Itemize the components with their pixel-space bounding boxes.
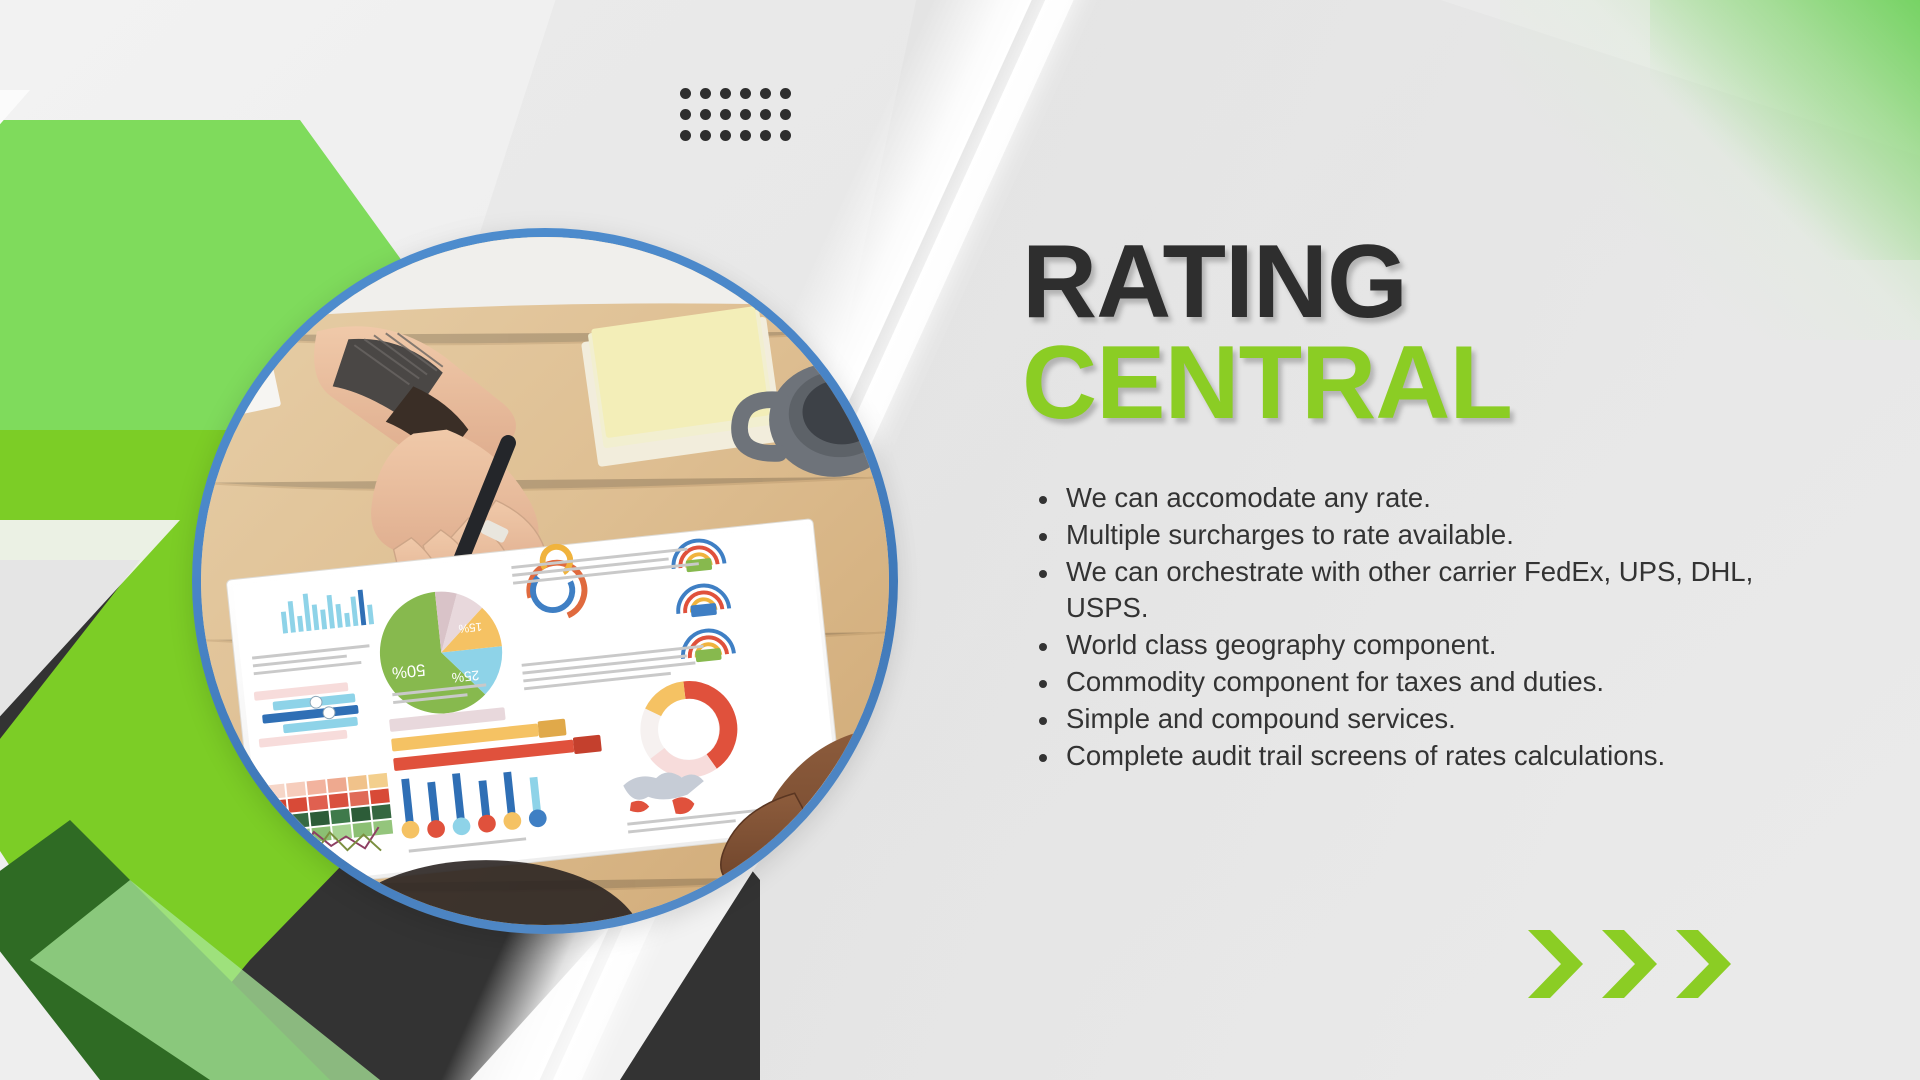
content-column: RATING CENTRAL We can accomodate any rat… [1022, 232, 1762, 775]
grid-dot [760, 130, 771, 141]
circular-photo-frame: 50% 25% 15% [192, 228, 898, 934]
list-item: Commodity component for taxes and duties… [1066, 664, 1762, 700]
svg-text:50%: 50% [391, 660, 426, 682]
feature-bullet-list: We can accomodate any rate. Multiple sur… [1022, 480, 1762, 774]
grid-dot [760, 109, 771, 120]
grid-dot [680, 109, 691, 120]
grid-dot [760, 88, 771, 99]
list-item: We can accomodate any rate. [1066, 480, 1762, 516]
chevron-right-icon [1598, 928, 1661, 1000]
grid-dot [700, 130, 711, 141]
grid-dot [700, 88, 711, 99]
grid-dot [780, 130, 791, 141]
grid-dot [720, 130, 731, 141]
chevron-right-icon [1524, 928, 1587, 1000]
chevron-right-icon [1672, 928, 1735, 1000]
grid-dot [780, 88, 791, 99]
grid-dot [720, 88, 731, 99]
desk-analytics-photo: 50% 25% 15% [201, 237, 889, 925]
svg-text:15%: 15% [457, 620, 482, 635]
page-title: RATING CENTRAL [1022, 232, 1762, 434]
grid-dot [780, 109, 791, 120]
svg-text:25%: 25% [451, 667, 480, 685]
grid-dot [680, 130, 691, 141]
grid-dot [680, 88, 691, 99]
title-line-primary: RATING [1022, 232, 1762, 333]
grid-dot [700, 109, 711, 120]
grid-dot [740, 88, 751, 99]
slide-canvas: 50% 25% 15% [0, 0, 1920, 1080]
grid-dot [740, 109, 751, 120]
list-item: Complete audit trail screens of rates ca… [1066, 738, 1762, 774]
list-item: Multiple surcharges to rate available. [1066, 517, 1762, 553]
grid-dot [720, 109, 731, 120]
dot-grid-decoration [680, 88, 800, 151]
grid-dot [740, 130, 751, 141]
title-line-accent: CENTRAL [1022, 333, 1762, 434]
list-item: We can orchestrate with other carrier Fe… [1066, 554, 1762, 626]
list-item: World class geography component. [1066, 627, 1762, 663]
list-item: Simple and compound services. [1066, 701, 1762, 737]
chevron-arrows-decoration [1524, 928, 1735, 1000]
